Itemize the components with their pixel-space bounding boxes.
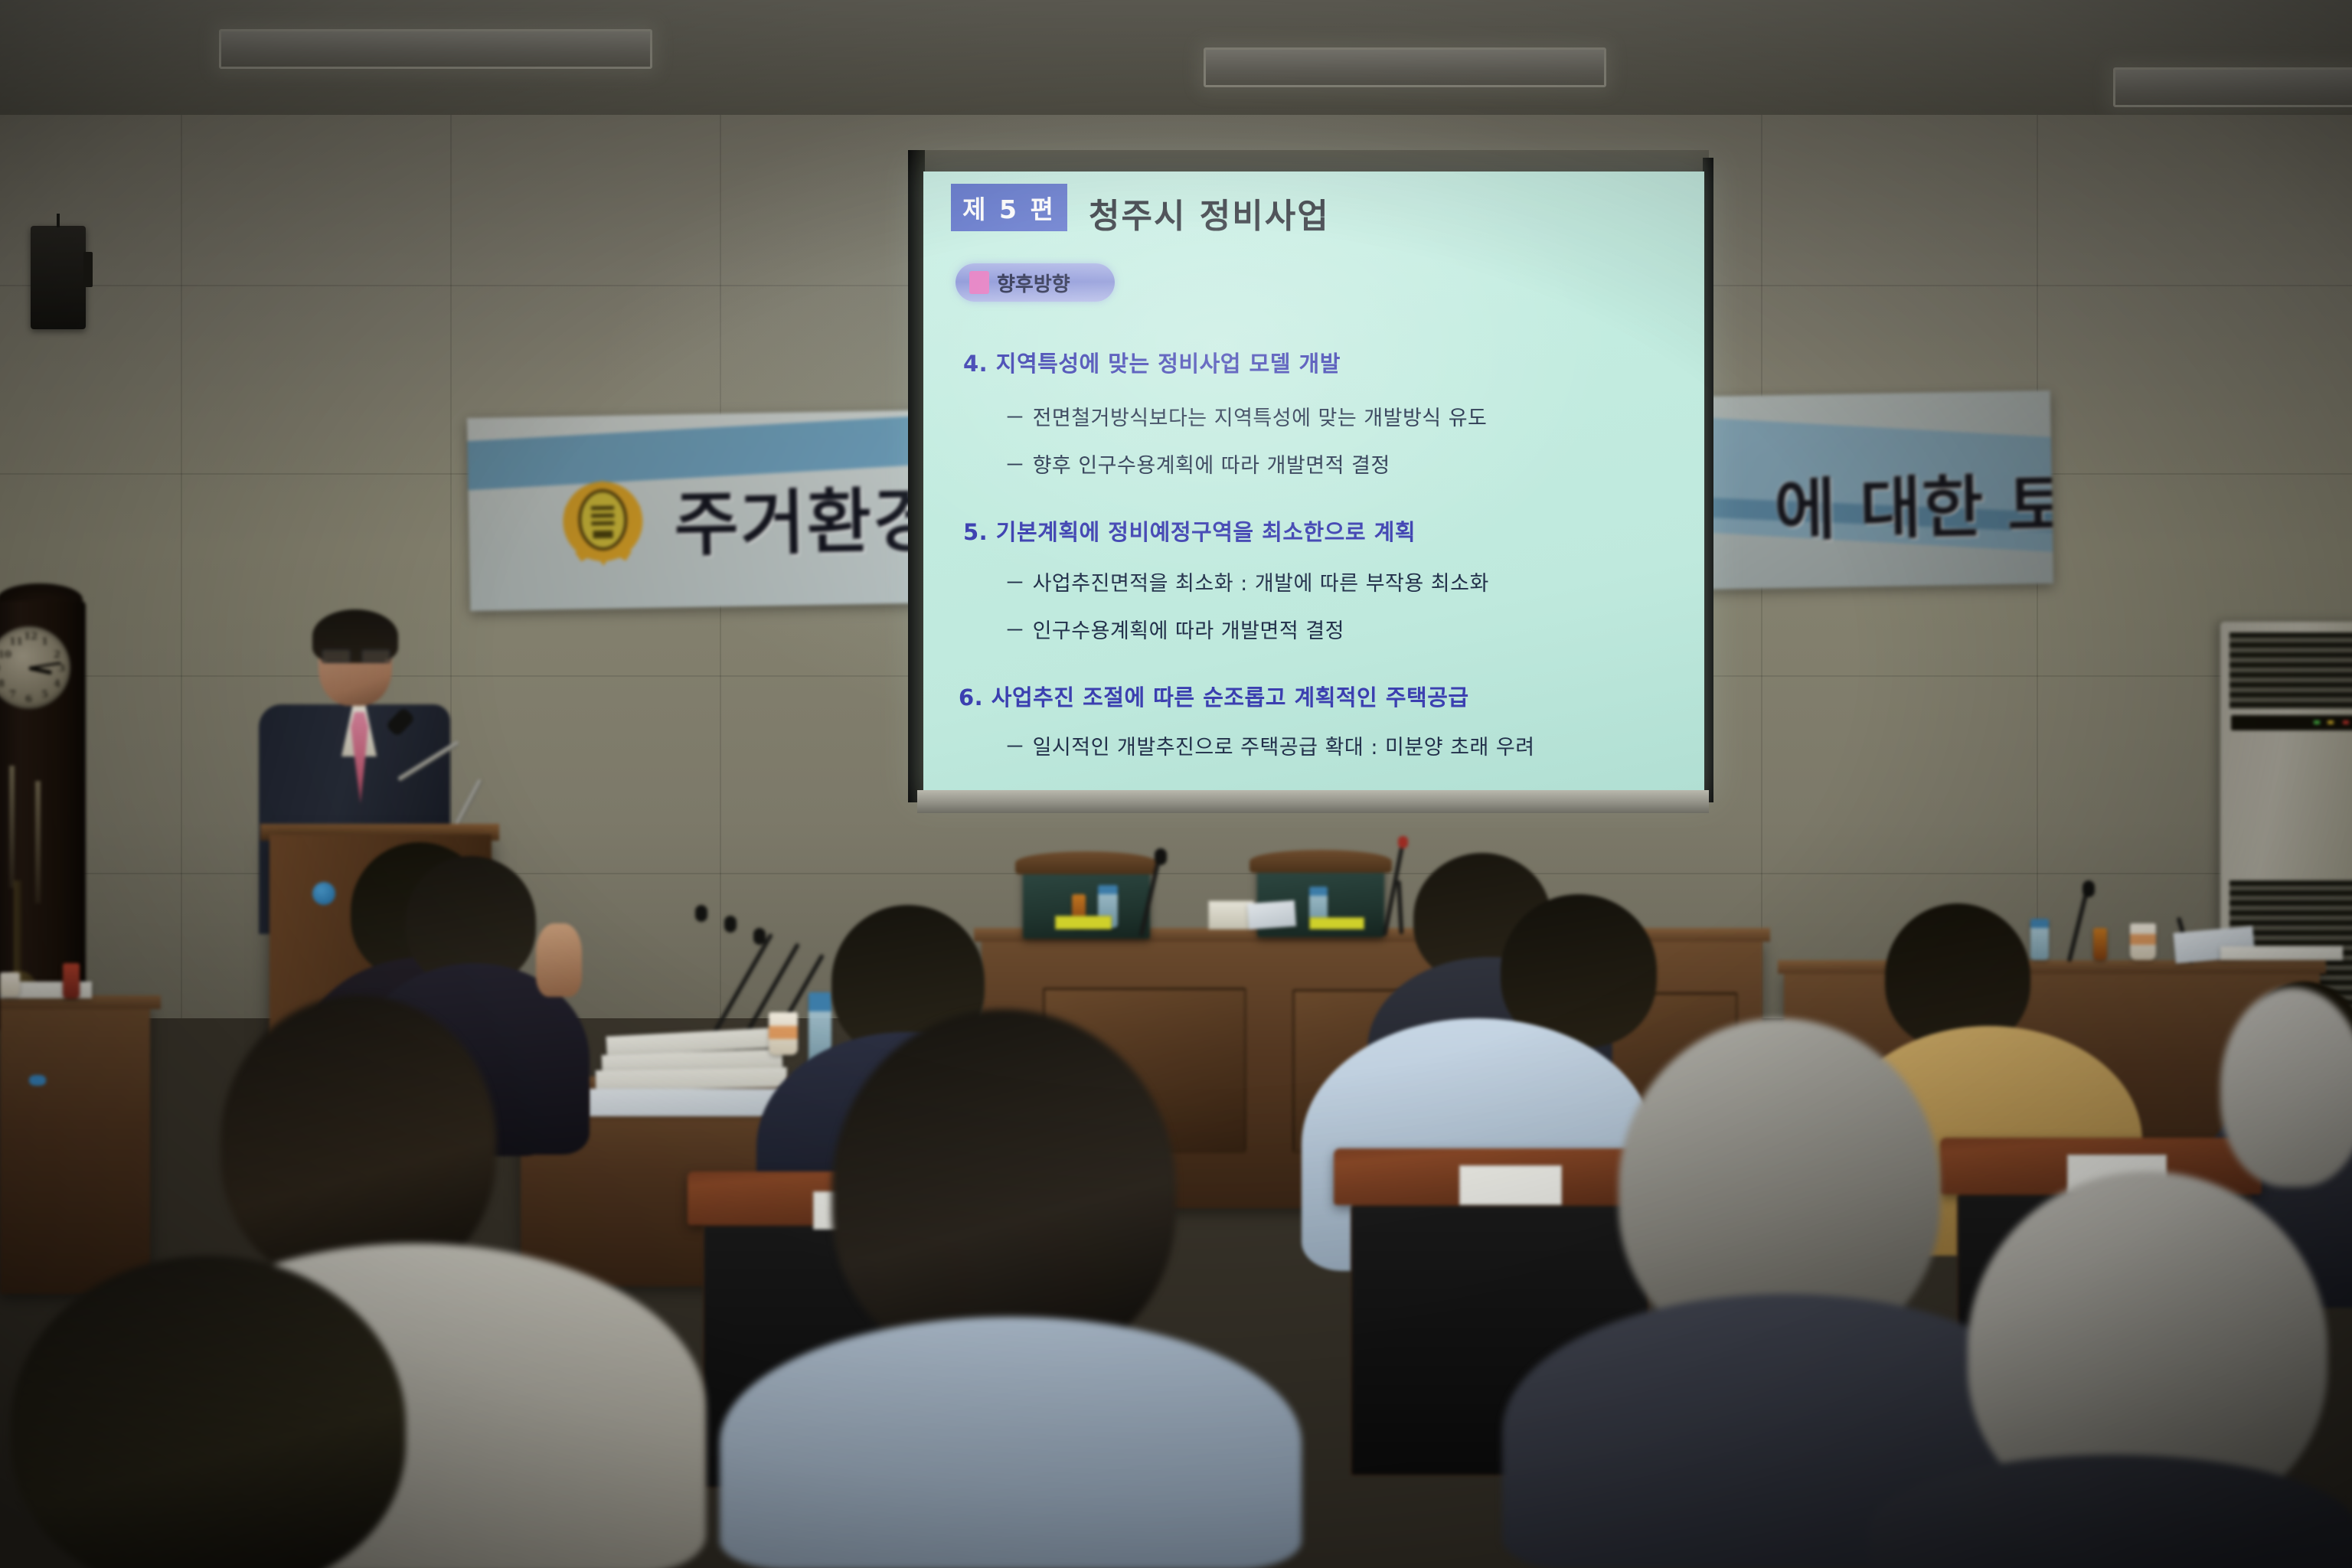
badge-square-icon bbox=[969, 271, 989, 294]
microphone-head-icon bbox=[724, 916, 737, 933]
clock-weight-chain bbox=[35, 781, 41, 903]
desk-document bbox=[1247, 900, 1296, 929]
drink-bottle bbox=[63, 963, 80, 998]
presentation-slide: 제 5 편 청주시 정비사업 향후방향 4. 지역특성에 맞는 정비사업 모델 … bbox=[923, 171, 1704, 790]
left-cabinet bbox=[0, 1003, 150, 1294]
glasses-lens bbox=[361, 649, 390, 663]
screen-bottom-bar bbox=[917, 790, 1709, 813]
ac-upper-vent-icon bbox=[2229, 632, 2352, 709]
presentation-room-photo: 주거환경정비 20 20 에 대한 토론회 제 5 편 청주시 정비사업 향후방… bbox=[0, 0, 2352, 1568]
clock-numeral: 10 bbox=[0, 649, 11, 661]
desk-nameplate bbox=[1309, 917, 1364, 929]
bottle-cap bbox=[808, 992, 831, 1011]
clock-numeral: 11 bbox=[9, 636, 23, 648]
desk-papers bbox=[2220, 946, 2343, 960]
paper-cup bbox=[769, 1012, 798, 1055]
slide-subbullet: － 사업추진면적을 최소화 : 개발에 따른 부작용 최소화 bbox=[1004, 567, 1489, 596]
wall-seam bbox=[181, 115, 182, 1018]
bottle-cap bbox=[1309, 887, 1328, 896]
slide-subbullet: － 일시적인 개발추진으로 주택공급 확대 : 미분양 초래 우려 bbox=[1004, 730, 1535, 760]
drink-bottle bbox=[2093, 928, 2107, 960]
audience-head bbox=[831, 1009, 1176, 1369]
clock-numeral: 5 bbox=[41, 689, 48, 701]
projection-screen: 제 5 편 청주시 정비사업 향후방향 4. 지역특성에 맞는 정비사업 모델 … bbox=[908, 150, 1713, 824]
clock-minute-hand bbox=[29, 661, 61, 669]
ceiling-light-fixture bbox=[219, 29, 652, 69]
seat-label bbox=[1459, 1165, 1562, 1205]
glasses-lens bbox=[322, 649, 351, 663]
microphone-head-icon bbox=[753, 928, 766, 945]
bottle-cap bbox=[1098, 885, 1118, 894]
slide-subbullet: － 향후 인구수용계획에 따라 개발면적 결정 bbox=[1004, 449, 1390, 479]
audience-shoulders bbox=[720, 1317, 1302, 1568]
slide-bullet: 4. 지역특성에 맞는 정비사업 모델 개발 bbox=[963, 346, 1341, 378]
ac-indicator-light bbox=[2327, 720, 2334, 724]
eyeglasses-icon bbox=[322, 649, 389, 660]
bottle-cap bbox=[2030, 919, 2049, 928]
screen-right-edge bbox=[1703, 158, 1713, 802]
clock-numeral: 7 bbox=[9, 689, 16, 701]
ac-display-panel bbox=[2231, 715, 2352, 730]
clock-numeral: 3 bbox=[58, 663, 65, 675]
cup-band bbox=[2130, 934, 2156, 945]
cup-band bbox=[769, 1026, 798, 1039]
audience-head bbox=[2220, 988, 2352, 1187]
ceiling-light-fixture bbox=[2113, 67, 2352, 107]
clock-numeral: 6 bbox=[25, 694, 32, 705]
paper-cup bbox=[0, 972, 20, 997]
wall-speaker-icon bbox=[31, 226, 86, 329]
clock-weight-chain bbox=[9, 766, 15, 888]
clock-numeral: 2 bbox=[54, 649, 60, 661]
screen-left-edge bbox=[908, 150, 925, 802]
podium-emblem-icon bbox=[312, 882, 335, 905]
audience-raised-hand bbox=[536, 923, 582, 997]
slide-topic-badge: 향후방향 bbox=[955, 263, 1115, 302]
city-emblem-icon bbox=[557, 475, 648, 574]
slide-subbullet: － 인구수용계획에 따라 개발면적 결정 bbox=[1004, 614, 1344, 644]
open-document bbox=[588, 1089, 782, 1116]
slide-section-chip: 제 5 편 bbox=[951, 184, 1067, 231]
speaker-bracket bbox=[83, 252, 93, 287]
microphone-indicator-icon bbox=[1398, 836, 1408, 848]
slide-bullet: 6. 사업추진 조절에 따른 순조롭고 계획적인 주택공급 bbox=[959, 680, 1469, 712]
slide-bullet: 5. 기본계획에 정비예정구역을 최소한으로 계획 bbox=[963, 514, 1416, 547]
audience-head bbox=[220, 995, 496, 1286]
desk-nameplate bbox=[1055, 916, 1112, 929]
clock-numeral: 12 bbox=[24, 631, 38, 642]
microphone-head-icon bbox=[695, 905, 707, 922]
badge-label: 향후방향 bbox=[997, 269, 1070, 297]
slide-subbullet: － 전면철거방식보다는 지역특성에 맞는 개발방식 유도 bbox=[1004, 401, 1487, 431]
ac-indicator-light bbox=[2343, 720, 2349, 724]
slide-heading: 청주시 정비사업 bbox=[1089, 188, 1330, 237]
cabinet-sticker bbox=[29, 1075, 46, 1086]
clock-numeral: 4 bbox=[54, 678, 60, 690]
chair-crest bbox=[1015, 851, 1158, 874]
paper-cup bbox=[2130, 923, 2156, 960]
clock-pendulum-rod bbox=[14, 880, 21, 980]
ac-indicator-light bbox=[2314, 720, 2320, 724]
right-desk-top bbox=[1778, 960, 2326, 974]
banner-title-right: 에 대한 토론회 bbox=[1773, 449, 2053, 554]
chair-crest bbox=[1249, 850, 1392, 873]
screen-top-bar bbox=[917, 150, 1709, 171]
water-bottle bbox=[2030, 919, 2049, 960]
stacked-documents bbox=[596, 1067, 787, 1090]
microphone-head-icon bbox=[2082, 880, 2095, 897]
clock-numeral: 8 bbox=[0, 678, 5, 690]
ceiling-light-fixture bbox=[1204, 47, 1606, 87]
clock-numeral: 1 bbox=[41, 636, 48, 648]
microphone-head-icon bbox=[1155, 848, 1167, 865]
